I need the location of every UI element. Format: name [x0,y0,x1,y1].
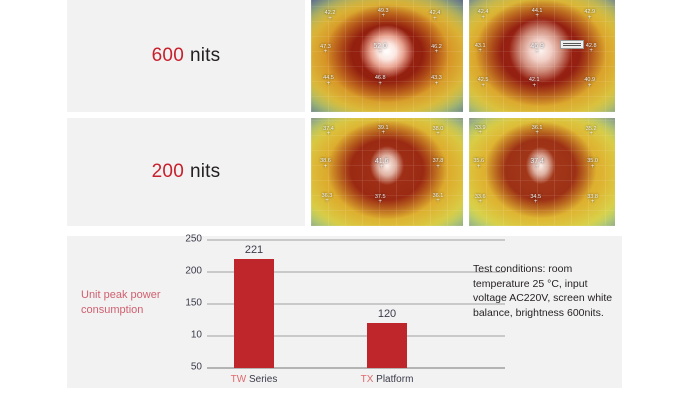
brightness-value: 200 [152,161,184,183]
temp-reading: 46.2 [431,45,442,56]
temp-reading: 35.0 [587,159,598,170]
brightness-label-600: 600 nits [67,0,305,112]
thermal-image-tx-platform-200nits: 33.9 36.1 35.2 35.6 37.4 35.0 33.6 34.5 … [469,118,615,226]
temp-reading: 35.2 [586,127,597,138]
temp-reading: 47.3 [320,45,331,56]
category-code: TX [361,374,374,385]
temp-reading: 43.1 [475,44,486,55]
temp-reading: 44.1 [532,9,543,20]
temp-reading-center: 37.4 [530,158,544,170]
bar-value-label: 120 [378,308,396,320]
brightness-label-200: 200 nits [67,118,305,226]
temp-reading-center: 46.9 [530,43,544,55]
temp-reading: 42.2 [325,11,336,22]
temp-reading: 33.9 [475,126,486,137]
gridline-250: 250 [207,239,505,241]
temp-reading: 43.3 [431,76,442,87]
brightness-row-200: 200 nits 37.4 39.1 38.0 38.6 41.6 37.8 3… [67,118,615,226]
thermal-image-tw-series-200nits: 37.4 39.1 38.0 38.6 41.6 37.8 36.3 37.5 … [311,118,463,226]
temp-reading: 42.4 [430,11,441,22]
temp-reading: 42.5 [478,78,489,89]
temp-reading: 44.5 [323,76,334,87]
temp-reading: 39.1 [378,126,389,137]
category-label-tx-platform: TX Platform [361,374,414,385]
y-tick-label: 10 [191,330,202,341]
y-tick-label: 150 [185,298,202,309]
thermal-image-pair-200: 37.4 39.1 38.0 38.6 41.6 37.8 36.3 37.5 … [311,118,615,226]
temp-reading: 42.9 [584,10,595,21]
temp-reading: 37.4 [323,127,334,138]
thermal-image-tx-platform-600nits: 42.4 44.1 42.9 43.1 46.9 42.8 42.5 42.1 … [469,0,615,112]
category-rest: Series [246,374,277,385]
thermal-scale-badge [560,40,584,49]
temp-reading: 38.6 [320,159,331,170]
temp-reading: 49.3 [378,9,389,20]
y-tick-label: 50 [191,362,202,373]
temp-reading: 36.1 [532,126,543,137]
bar-chart: 250 200 150 10 50 221 TW Series 120 TX P… [207,240,505,368]
temp-reading: 33.8 [587,195,598,206]
temp-reading: 40.9 [584,78,595,89]
brightness-unit: nits [190,45,220,67]
temp-reading-center: 41.6 [375,158,389,170]
thermal-image-pair-600: 42.2 49.3 42.4 47.3 52.0 46.2 44.5 46.8 … [311,0,615,112]
y-tick-label: 250 [185,234,202,245]
brightness-row-600: 600 nits 42.2 49.3 42.4 47.3 52.0 46.2 4… [67,0,615,112]
temp-reading: 34.5 [530,195,541,206]
bar-tw-series[interactable]: 221 TW Series [234,259,274,368]
category-code: TW [231,374,247,385]
thermal-image-tw-series-600nits: 42.2 49.3 42.4 47.3 52.0 46.2 44.5 46.8 … [311,0,463,112]
chart-panel: Unit peak power consumption 250 200 150 … [67,236,622,388]
temp-reading: 38.0 [433,127,444,138]
temp-reading-center: 52.0 [373,43,387,55]
temp-reading: 42.8 [586,44,597,55]
temp-reading: 37.5 [375,195,386,206]
brightness-value: 600 [152,45,184,67]
bar-tx-platform[interactable]: 120 TX Platform [367,323,407,368]
y-tick-label: 200 [185,266,202,277]
temp-reading: 33.6 [475,195,486,206]
temp-reading: 46.8 [375,76,386,87]
temp-reading: 42.1 [529,78,540,89]
category-label-tw-series: TW Series [231,374,278,385]
temp-reading: 37.8 [433,159,444,170]
temp-reading: 36.1 [433,194,444,205]
test-conditions-text: Test conditions: room temperature 25 °C,… [473,262,613,320]
bar-value-label: 221 [245,244,263,256]
temp-reading: 35.6 [473,159,484,170]
brightness-unit: nits [190,161,220,183]
category-rest: Platform [373,374,413,385]
temp-reading: 36.3 [322,194,333,205]
temp-reading: 42.4 [478,10,489,21]
